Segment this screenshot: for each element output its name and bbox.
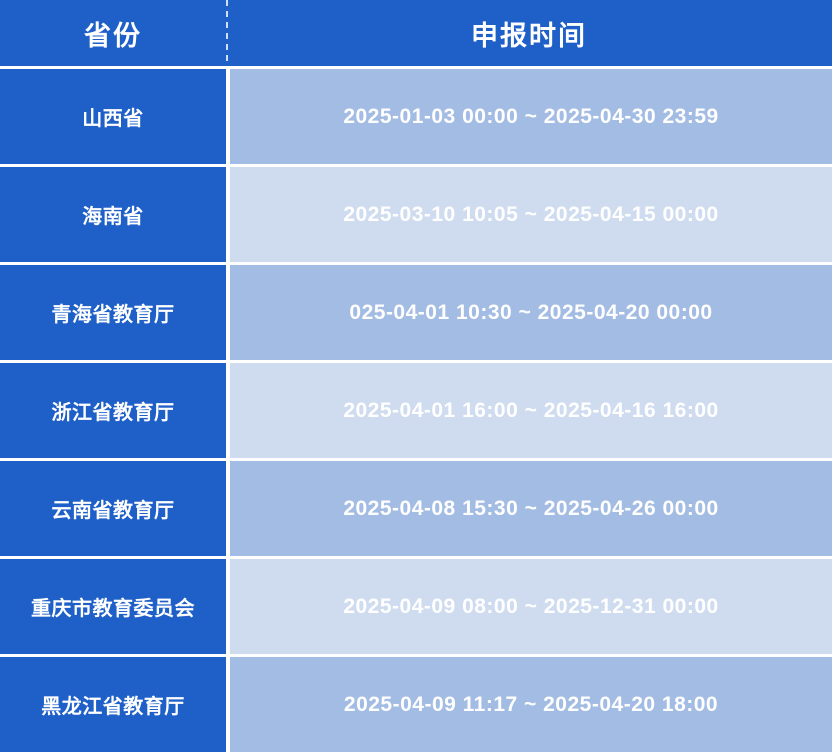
cell-declaration-time: 2025-04-01 16:00 ~ 2025-04-16 16:00 [230, 363, 832, 458]
cell-declaration-time: 2025-03-10 10:05 ~ 2025-04-15 00:00 [230, 167, 832, 262]
table: 省份 申报时间 山西省2025-01-03 00:00 ~ 2025-04-30… [0, 0, 832, 752]
table-row: 黑龙江省教育厅2025-04-09 11:17 ~ 2025-04-20 18:… [0, 657, 832, 752]
table-row: 云南省教育厅2025-04-08 15:30 ~ 2025-04-26 00:0… [0, 461, 832, 556]
cell-province: 云南省教育厅 [0, 461, 226, 556]
cell-declaration-time: 2025-04-09 11:17 ~ 2025-04-20 18:00 [230, 657, 832, 752]
cell-declaration-time: 2025-04-09 08:00 ~ 2025-12-31 00:00 [230, 559, 832, 654]
table-row: 青海省教育厅025-04-01 10:30 ~ 2025-04-20 00:00 [0, 265, 832, 360]
cell-declaration-time: 2025-04-08 15:30 ~ 2025-04-26 00:00 [230, 461, 832, 556]
table-row: 山西省2025-01-03 00:00 ~ 2025-04-30 23:59 [0, 69, 832, 164]
table-row: 海南省2025-03-10 10:05 ~ 2025-04-15 00:00 [0, 167, 832, 262]
cell-province: 山西省 [0, 69, 226, 164]
table-row: 重庆市教育委员会2025-04-09 08:00 ~ 2025-12-31 00… [0, 559, 832, 654]
column-header-province: 省份 [0, 0, 226, 66]
cell-province: 青海省教育厅 [0, 265, 226, 360]
header-column-divider [226, 0, 228, 66]
table-header-row: 省份 申报时间 [0, 0, 832, 66]
column-header-declaration-time: 申报时间 [226, 0, 832, 66]
table-row: 浙江省教育厅2025-04-01 16:00 ~ 2025-04-16 16:0… [0, 363, 832, 458]
cell-province: 重庆市教育委员会 [0, 559, 226, 654]
cell-declaration-time: 2025-01-03 00:00 ~ 2025-04-30 23:59 [230, 69, 832, 164]
cell-province: 黑龙江省教育厅 [0, 657, 226, 752]
cell-province: 海南省 [0, 167, 226, 262]
table-body: 山西省2025-01-03 00:00 ~ 2025-04-30 23:59海南… [0, 66, 832, 752]
declaration-schedule-table: 省份 申报时间 山西省2025-01-03 00:00 ~ 2025-04-30… [0, 0, 832, 734]
cell-province: 浙江省教育厅 [0, 363, 226, 458]
cell-declaration-time: 025-04-01 10:30 ~ 2025-04-20 00:00 [230, 265, 832, 360]
